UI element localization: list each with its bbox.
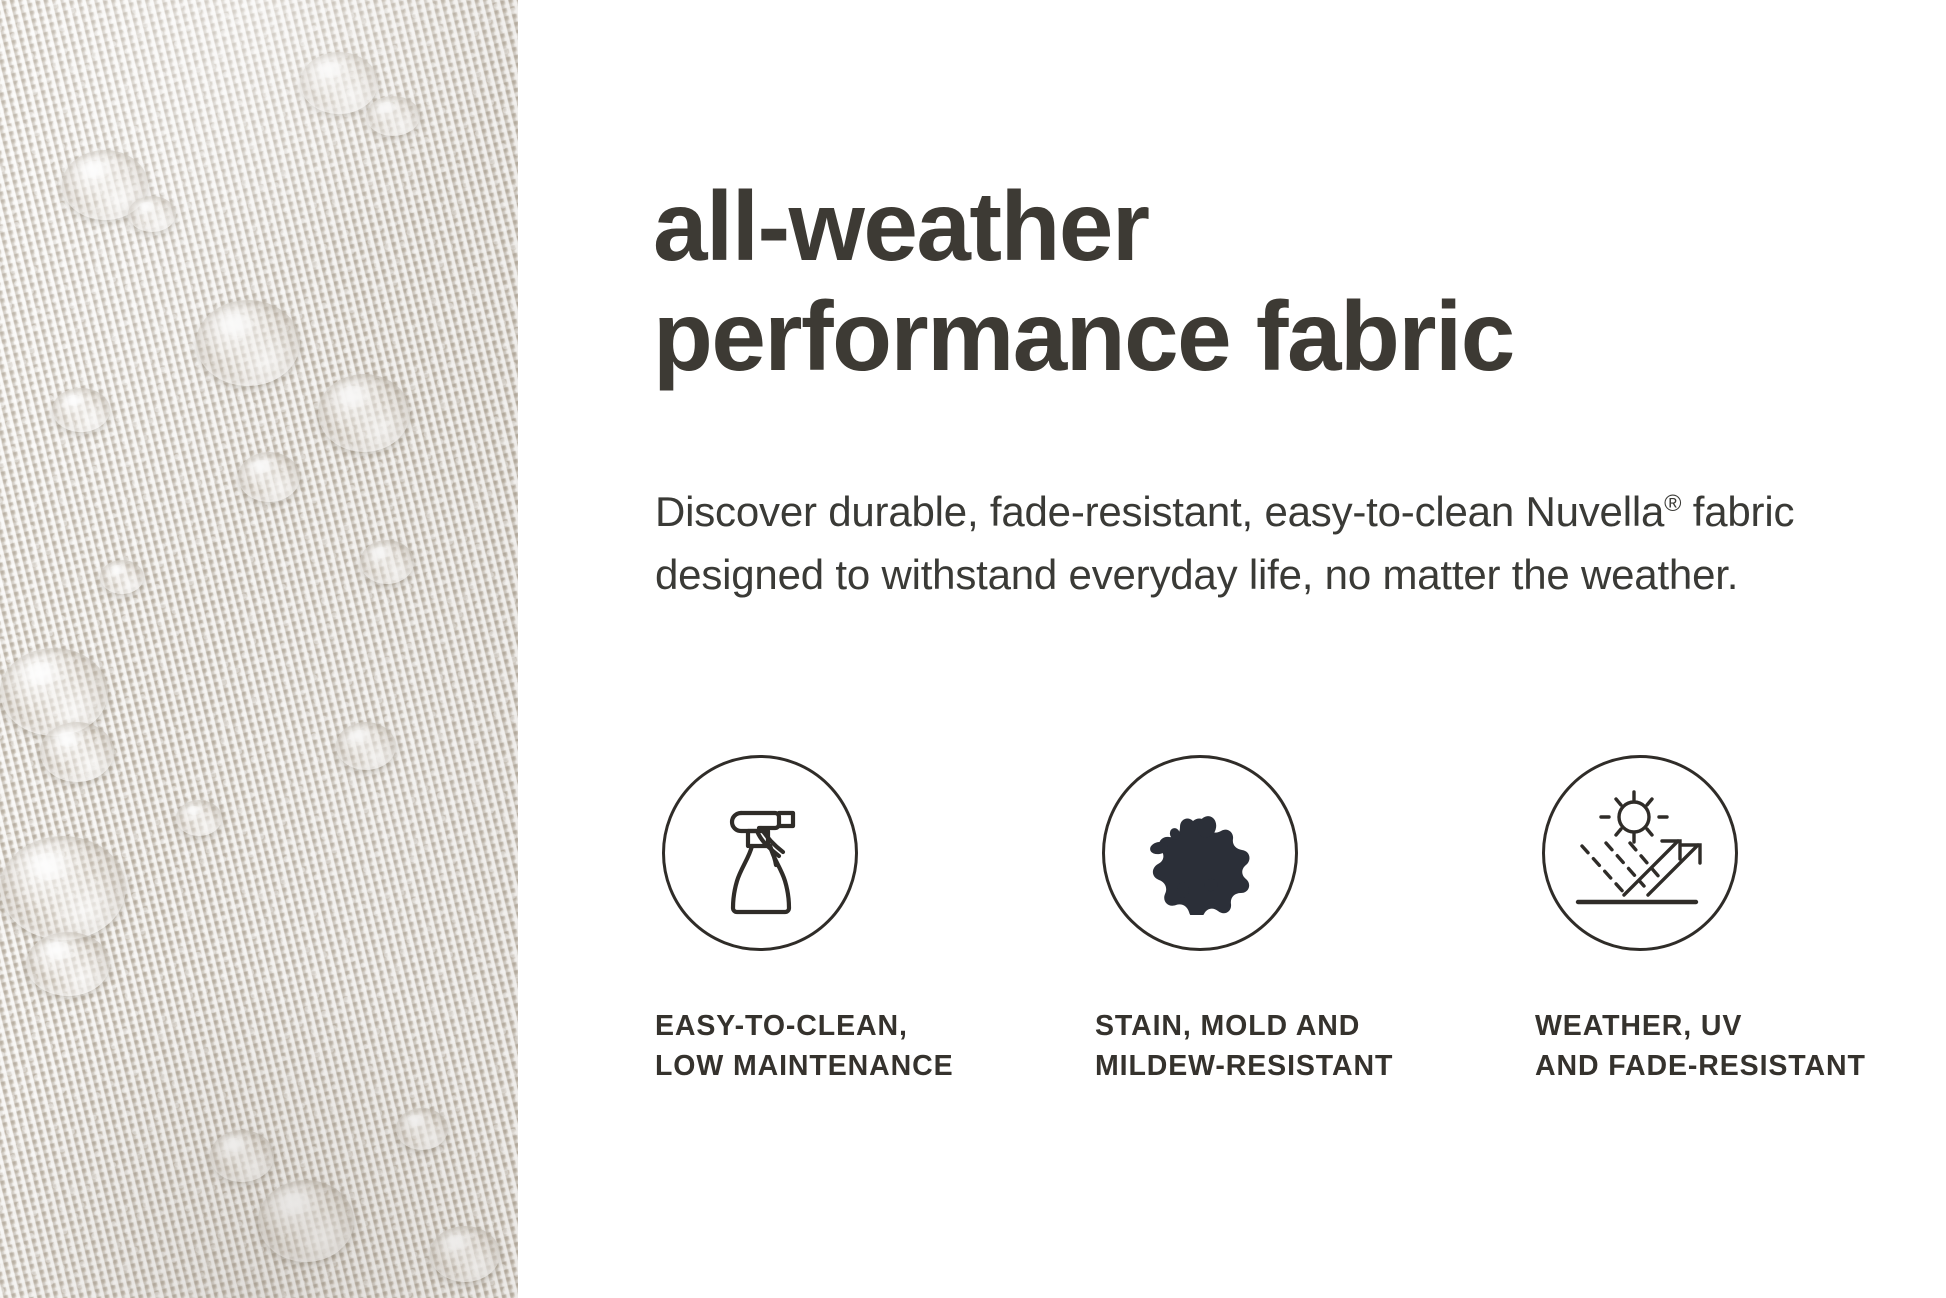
feature-label: WEATHER, UV AND FADE-RESISTANT bbox=[1535, 1006, 1866, 1087]
subcopy-part-1: Discover durable, fade-resistant, easy-t… bbox=[655, 488, 1664, 535]
stain-splatter-icon bbox=[1138, 791, 1262, 915]
fabric-shading-overlay bbox=[0, 0, 518, 1298]
feature-label: EASY-TO-CLEAN, LOW MAINTENANCE bbox=[655, 1006, 953, 1087]
content-panel: all-weather performance fabric Discover … bbox=[518, 0, 1946, 1298]
page-title: all-weather performance fabric bbox=[653, 172, 1913, 392]
feature-item-weather-uv-resistant: WEATHER, UV AND FADE-RESISTANT bbox=[1535, 755, 1946, 1087]
spray-bottle-icon bbox=[701, 788, 819, 918]
all-weather-fabric-banner: all-weather performance fabric Discover … bbox=[0, 0, 1946, 1298]
registered-trademark-mark: ® bbox=[1664, 490, 1681, 516]
feature-list: EASY-TO-CLEAN, LOW MAINTENANCE bbox=[655, 755, 1946, 1087]
fabric-image-panel bbox=[0, 0, 518, 1298]
feature-label: STAIN, MOLD AND MILDEW-RESISTANT bbox=[1095, 1006, 1393, 1087]
subcopy-paragraph: Discover durable, fade-resistant, easy-t… bbox=[655, 480, 1835, 606]
feature-icon-frame bbox=[1102, 755, 1298, 951]
feature-icon-frame bbox=[1542, 755, 1738, 951]
feature-item-stain-resistant: STAIN, MOLD AND MILDEW-RESISTANT bbox=[1095, 755, 1535, 1087]
sun-uv-reflect-icon bbox=[1574, 790, 1706, 916]
feature-icon-frame bbox=[662, 755, 858, 951]
feature-item-easy-to-clean: EASY-TO-CLEAN, LOW MAINTENANCE bbox=[655, 755, 1095, 1087]
